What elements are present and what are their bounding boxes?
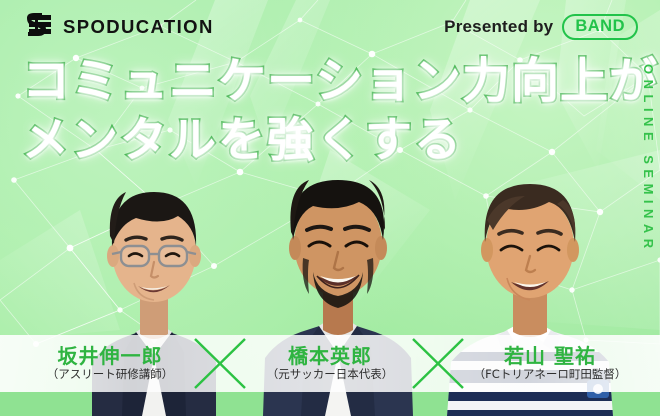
presented-by-label: Presented by — [444, 17, 553, 37]
speaker-name-list: 坂井伸一郎 （アスリート研修講師） 橋本英郎 （元サッカー日本代表） 若山 聖祐… — [0, 335, 660, 392]
speaker-title-3: （FCトリアネーロ町田監督） — [474, 368, 627, 381]
speaker-title-1: （アスリート研修講師） — [47, 368, 174, 381]
presented-by-group: Presented by BAND — [444, 14, 638, 40]
speaker-name-cell-2: 橋本英郎 （元サッカー日本代表） — [220, 335, 440, 392]
speaker-name-cell-1: 坂井伸一郎 （アスリート研修講師） — [0, 335, 220, 392]
spoducation-s-logo-icon — [26, 12, 54, 43]
speaker-name-cell-3: 若山 聖祐 （FCトリアネーロ町田監督） — [440, 335, 660, 392]
speaker-name-2: 橋本英郎 — [288, 346, 372, 367]
brand-lockup: SPODUCATION — [26, 12, 214, 43]
brand-name: SPODUCATION — [63, 16, 214, 38]
speaker-title-2: （元サッカー日本代表） — [267, 368, 394, 381]
seminar-banner: SPODUCATION Presented by BAND コミュニケーション力… — [0, 0, 660, 416]
banner-header: SPODUCATION Presented by BAND — [0, 0, 660, 54]
speaker-name-3: 若山 聖祐 — [504, 346, 596, 367]
band-logo-badge: BAND — [562, 14, 638, 40]
speaker-name-1: 坂井伸一郎 — [58, 346, 163, 367]
